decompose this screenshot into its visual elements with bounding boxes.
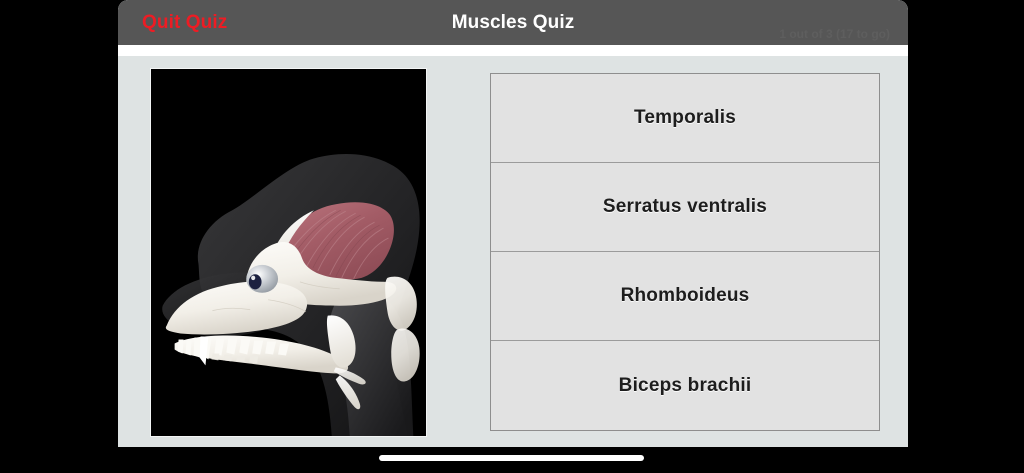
answer-option-label: Rhomboideus [621,285,750,307]
answer-option-1[interactable]: Temporalis [491,74,879,163]
specimen-image-frame [150,68,427,437]
home-indicator[interactable] [379,455,644,461]
answer-option-label: Temporalis [634,107,736,129]
answer-options-panel: Temporalis Serratus ventralis Rhomboideu… [490,73,880,431]
quiz-progress-label: 1 out of 3 (17 to go) [779,27,890,41]
navigation-bar: Quit Quiz Muscles Quiz 1 out of 3 (17 to… [118,0,908,45]
device-screen: Quit Quiz Muscles Quiz 1 out of 3 (17 to… [0,0,1024,473]
answer-option-label: Serratus ventralis [603,196,767,218]
quit-quiz-button[interactable]: Quit Quiz [142,12,227,34]
answer-option-label: Biceps brachii [619,375,752,397]
answer-option-4[interactable]: Biceps brachii [491,341,879,430]
navbar-separator [118,45,908,56]
quiz-app-window: Quit Quiz Muscles Quiz 1 out of 3 (17 to… [118,0,908,447]
answer-option-2[interactable]: Serratus ventralis [491,163,879,252]
specimen-image[interactable] [151,69,426,436]
dog-skull-illustration [151,69,426,436]
quiz-content-area: Temporalis Serratus ventralis Rhomboideu… [118,56,908,447]
answer-option-3[interactable]: Rhomboideus [491,252,879,341]
